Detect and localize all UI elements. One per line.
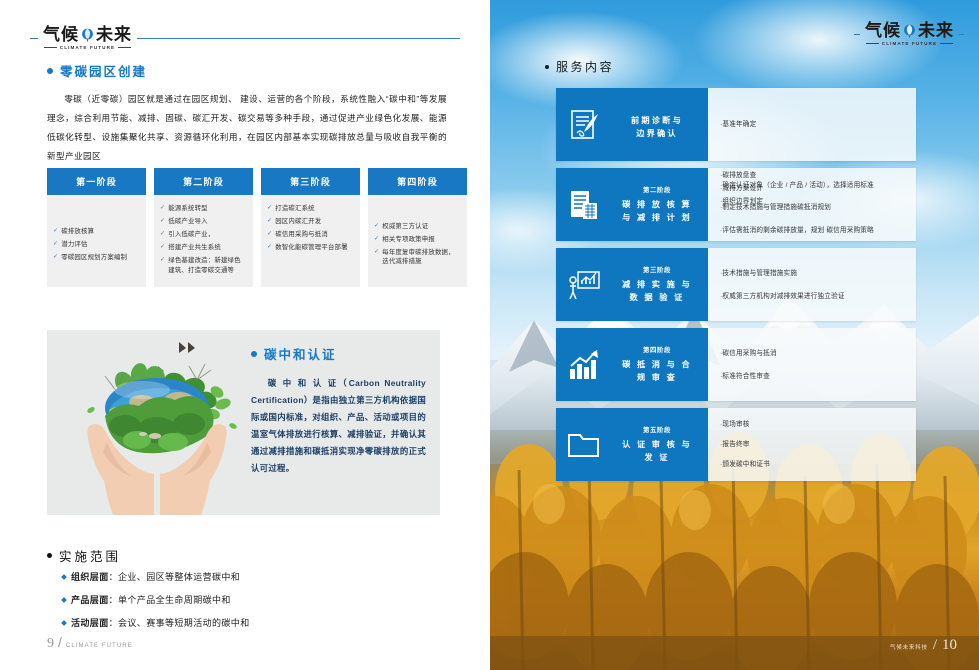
card-line: ·权威第三方机构对减排效果进行独立验证 bbox=[720, 291, 904, 302]
logo-rule-left bbox=[30, 38, 38, 39]
check-icon: ✓ bbox=[267, 217, 272, 227]
check-icon: ✓ bbox=[374, 222, 379, 232]
stage-item-label: 低碳产业导入 bbox=[168, 217, 208, 227]
right-page-footer: 气候未来科技 / 10 bbox=[890, 637, 957, 654]
logo-char-1: 气 bbox=[43, 26, 61, 43]
stage-header: 第二阶段 bbox=[154, 168, 253, 195]
logo-tagline-row: CLIMATE FUTURE bbox=[865, 41, 954, 46]
check-icon: ✓ bbox=[53, 227, 58, 237]
diamond-bullet-icon bbox=[61, 574, 67, 580]
stage-item: ✓数智化能碳管理平台部署 bbox=[267, 243, 354, 253]
leaf-globe-icon bbox=[80, 27, 95, 42]
folder-icon bbox=[556, 430, 612, 460]
stage-item: ✓打造碳汇系统 bbox=[267, 204, 354, 214]
section-heading-services: 服务内容 bbox=[545, 58, 614, 75]
scope-item-text: ：企业、园区等整体运营碳中和 bbox=[109, 570, 241, 583]
scope-item-text: ：单个产品全生命周期碳中和 bbox=[109, 593, 231, 606]
footer-slash: / bbox=[58, 634, 62, 650]
card-blue-panel: 第三阶段 减 排 实 施 与 数 据 验 证 bbox=[556, 248, 708, 321]
logo-wordmark: 气 候 未 来 CLIMATE FUTURE bbox=[38, 26, 137, 50]
service-card[interactable]: 第四阶段 碳 抵 消 与 合 规 审 查 ·碳信用采购与抵消 ·标准符合性审查 bbox=[556, 328, 916, 401]
check-icon: ✓ bbox=[160, 256, 165, 266]
hands-earth-image bbox=[47, 330, 247, 515]
logo-char-4: 来 bbox=[936, 22, 954, 39]
card-line-overlay: ·组织边界划定 bbox=[720, 196, 763, 207]
scope-item-label: 活动层面 bbox=[71, 616, 109, 629]
section-heading-zero-carbon: 零碳园区创建 bbox=[47, 61, 147, 80]
diamond-bullet-icon bbox=[61, 620, 67, 626]
stage-item: ✓引入低碳产业， bbox=[160, 230, 247, 240]
certification-panel: 碳中和认证 碳 中 和 认 证（Carbon Neutrality Certif… bbox=[47, 330, 440, 515]
logo-char-2: 候 bbox=[883, 22, 901, 39]
footer-slash: / bbox=[933, 637, 937, 654]
check-icon: ✓ bbox=[160, 243, 165, 253]
stage-item-label: 碳信用采购与抵消 bbox=[275, 230, 328, 240]
stage-item-label: 数智化能碳管理平台部署 bbox=[275, 243, 348, 253]
card-name: 减 排 实 施 与 数 据 验 证 bbox=[612, 278, 702, 304]
check-icon: ✓ bbox=[267, 204, 272, 214]
logo-char-1: 气 bbox=[865, 22, 883, 39]
stage-body: ✓权威第三方认证 ✓相关专项政策申报 ✓每年度复审碳排放数据，迭代减排措施 bbox=[368, 195, 467, 287]
card-line: ·碳信用采购与抵消 bbox=[720, 348, 904, 359]
stage-item: ✓搭建产业共生系统 bbox=[160, 243, 247, 253]
card-detail-panel: ·现场审核 ·报告终审 ·颁发碳中和证书 bbox=[708, 408, 916, 481]
stage-item-label: 相关专项政策申报 bbox=[382, 235, 435, 245]
diamond-bullet-icon bbox=[61, 597, 67, 603]
stage-item-label: 绿色基建改造：新建绿色建筑、打造零碳交通等 bbox=[168, 256, 247, 275]
footer-label: 气候未来科技 bbox=[890, 643, 928, 651]
logo-char-4: 来 bbox=[114, 26, 132, 43]
logo-wordmark: 气 候 未 来 CLIMATE FUTURE bbox=[860, 22, 959, 46]
stage-body: ✓打造碳汇系统 ✓园区内碳汇开发 ✓碳信用采购与抵消 ✓数智化能碳管理平台部署 bbox=[261, 195, 360, 287]
tagline-rule-left bbox=[44, 47, 57, 48]
card-label: 前期诊断与 边界确认 bbox=[612, 110, 708, 140]
certification-title: 碳中和认证 bbox=[264, 344, 337, 363]
scope-list: 组织层面 ：企业、园区等整体运营碳中和 产品层面 ：单个产品全生命周期碳中和 活… bbox=[62, 570, 250, 639]
stage-item-label: 权威第三方认证 bbox=[382, 222, 428, 232]
stage-item-label: 打造碳汇系统 bbox=[275, 204, 315, 214]
page-number: 10 bbox=[942, 637, 957, 654]
logo-rule-right bbox=[137, 38, 460, 39]
card-blue-panel: 前期诊断与 边界确认 bbox=[556, 88, 708, 161]
card-line-overlay: ·碳排放盘查 bbox=[720, 170, 756, 181]
footer-label: CLIMATE FUTURE bbox=[66, 643, 133, 649]
logo-rule-right bbox=[959, 34, 964, 35]
stage-body: ✓能源系统转型 ✓低碳产业导入 ✓引入低碳产业， ✓搭建产业共生系统 ✓绿色基建… bbox=[154, 195, 253, 287]
stage-item: ✓相关专项政策申报 bbox=[374, 235, 461, 245]
stage-column-1: 第一阶段 ✓碳排放核算 ✓潜力评估 ✓零碳园区规划方案编制 bbox=[47, 168, 146, 287]
card-line: ·技术措施与管理措施实施 bbox=[720, 268, 904, 279]
logo-tagline: CLIMATE FUTURE bbox=[882, 41, 937, 46]
brochure-spread: 气 候 未 来 CLIMATE FUTURE 零碳园区创建 bbox=[0, 0, 979, 670]
left-page-footer: 9 / CLIMATE FUTURE bbox=[47, 634, 133, 652]
bullet-dot-icon bbox=[47, 553, 52, 558]
stage-item: ✓每年度复审碳排放数据，迭代减排措施 bbox=[374, 248, 461, 267]
stage-item: ✓绿色基建改造：新建绿色建筑、打造零碳交通等 bbox=[160, 256, 247, 275]
service-cards-list: 前期诊断与 边界确认 ·基准年确定 第二阶段 bbox=[556, 88, 916, 488]
ledger-calculator-icon bbox=[556, 188, 612, 222]
stage-header: 第一阶段 bbox=[47, 168, 146, 195]
stage-item-label: 能源系统转型 bbox=[168, 204, 208, 214]
stage-item: ✓零碳园区规划方案编制 bbox=[53, 253, 140, 263]
stage-item: ✓能源系统转型 bbox=[160, 204, 247, 214]
stage-column-3: 第三阶段 ✓打造碳汇系统 ✓园区内碳汇开发 ✓碳信用采购与抵消 ✓数智化能碳管理… bbox=[261, 168, 360, 287]
stage-body: ✓碳排放核算 ✓潜力评估 ✓零碳园区规划方案编制 bbox=[47, 195, 146, 287]
stage-item: ✓园区内碳汇开发 bbox=[267, 217, 354, 227]
stage-item: ✓权威第三方认证 bbox=[374, 222, 461, 232]
service-card[interactable]: 第二阶段 碳 排 放 核 算 与 减 排 计 划 ·碳排放盘查 ·减排方案设计 … bbox=[556, 168, 916, 241]
tagline-rule-left bbox=[866, 43, 879, 44]
stage-item: ✓碳排放核算 bbox=[53, 227, 140, 237]
tagline-rule-right bbox=[940, 43, 953, 44]
logo-char-3: 未 bbox=[96, 26, 114, 43]
check-icon: ✓ bbox=[374, 235, 379, 245]
check-icon: ✓ bbox=[160, 230, 165, 240]
check-icon: ✓ bbox=[53, 253, 58, 263]
logo-tagline: CLIMATE FUTURE bbox=[60, 45, 115, 50]
card-line: ·现场审核 bbox=[720, 419, 904, 430]
section-heading-scope: 实施范围 bbox=[47, 546, 121, 565]
service-card[interactable]: 第三阶段 减 排 实 施 与 数 据 验 证 ·技术措施与管理措施实施 ·权威第… bbox=[556, 248, 916, 321]
card-stage: 第二阶段 bbox=[612, 185, 702, 194]
scope-item-text: ：会议、赛事等短期活动的碳中和 bbox=[109, 616, 250, 629]
card-detail-panel: ·技术措施与管理措施实施 ·权威第三方机构对减排效果进行独立验证 bbox=[708, 248, 916, 321]
card-detail-panel: ·基准年确定 bbox=[708, 88, 916, 161]
scope-title: 实施范围 bbox=[59, 546, 121, 565]
page-gutter bbox=[488, 0, 490, 670]
card-label: 第四阶段 碳 抵 消 与 合 规 审 查 bbox=[612, 345, 708, 384]
certification-heading: 碳中和认证 bbox=[251, 344, 426, 363]
card-line-overlay: ·减排方案设计 bbox=[720, 183, 763, 194]
stage-item: ✓低碳产业导入 bbox=[160, 217, 247, 227]
card-label: 第二阶段 碳 排 放 核 算 与 减 排 计 划 bbox=[612, 185, 708, 224]
card-name: 碳 抵 消 与 合 规 审 查 bbox=[612, 358, 702, 384]
bullet-dot-icon bbox=[47, 68, 53, 74]
card-stage: 第三阶段 bbox=[612, 265, 702, 274]
card-blue-panel: 第五阶段 认 证 审 核 与 发 证 bbox=[556, 408, 708, 481]
card-detail-panel: ·碳排放盘查 ·减排方案设计 ·组织边界划定 ·确定认证对象（企业 / 产品 /… bbox=[708, 168, 916, 241]
list-item: 活动层面 ：会议、赛事等短期活动的碳中和 bbox=[62, 616, 250, 629]
stage-item-label: 每年度复审碳排放数据，迭代减排措施 bbox=[382, 248, 461, 267]
page-number: 9 bbox=[47, 636, 54, 652]
document-feather-icon bbox=[556, 108, 612, 142]
logo-tagline-row: CLIMATE FUTURE bbox=[43, 45, 132, 50]
stage-header: 第四阶段 bbox=[368, 168, 467, 195]
stage-column-2: 第二阶段 ✓能源系统转型 ✓低碳产业导入 ✓引入低碳产业， ✓搭建产业共生系统 … bbox=[154, 168, 253, 287]
presenter-chart-icon bbox=[556, 268, 612, 302]
check-icon: ✓ bbox=[53, 240, 58, 250]
stage-header: 第三阶段 bbox=[261, 168, 360, 195]
card-name: 碳 排 放 核 算 与 减 排 计 划 bbox=[612, 198, 702, 224]
left-page: 气 候 未 来 CLIMATE FUTURE 零碳园区创建 bbox=[0, 0, 489, 670]
stage-table: 第一阶段 ✓碳排放核算 ✓潜力评估 ✓零碳园区规划方案编制 第二阶段 ✓能源系统… bbox=[47, 168, 467, 287]
certification-text-block: 碳中和认证 碳 中 和 认 证（Carbon Neutrality Certif… bbox=[247, 330, 440, 515]
stage-item-label: 零碳园区规划方案编制 bbox=[61, 253, 127, 263]
card-detail-panel: ·碳信用采购与抵消 ·标准符合性审查 bbox=[708, 328, 916, 401]
list-item: 产品层面 ：单个产品全生命周期碳中和 bbox=[62, 593, 250, 606]
logo-characters: 气 候 未 来 bbox=[865, 22, 954, 39]
section-title: 零碳园区创建 bbox=[60, 61, 147, 80]
brand-logo-right: 气 候 未 来 CLIMATE FUTURE bbox=[854, 22, 964, 46]
intro-paragraph: 零碳（近零碳）园区就是通过在园区规划、 建设、运营的各个阶段，系统性融入“碳中和… bbox=[47, 90, 447, 166]
stage-item: ✓碳信用采购与抵消 bbox=[267, 230, 354, 240]
card-line: ·标准符合性审查 bbox=[720, 371, 904, 382]
brand-logo-left: 气 候 未 来 CLIMATE FUTURE bbox=[30, 26, 460, 50]
stage-item-label: 搭建产业共生系统 bbox=[168, 243, 221, 253]
leaf-globe-icon bbox=[902, 23, 917, 38]
growth-bar-arrow-icon bbox=[556, 349, 612, 381]
logo-characters: 气 候 未 来 bbox=[43, 26, 132, 43]
stage-item-label: 碳排放核算 bbox=[61, 227, 94, 237]
card-stage: 第五阶段 bbox=[612, 425, 702, 434]
stage-item-label: 潜力评估 bbox=[61, 240, 87, 250]
card-stage: 第四阶段 bbox=[612, 345, 702, 354]
logo-char-3: 未 bbox=[918, 22, 936, 39]
scope-item-label: 组织层面 bbox=[71, 570, 109, 583]
card-name: 认 证 审 核 与 发 证 bbox=[612, 438, 702, 464]
bullet-dot-icon bbox=[545, 65, 549, 69]
card-line: ·报告终审 bbox=[720, 439, 904, 450]
tagline-rule-right bbox=[118, 47, 131, 48]
card-label: 第三阶段 减 排 实 施 与 数 据 验 证 bbox=[612, 265, 708, 304]
stage-item: ✓潜力评估 bbox=[53, 240, 140, 250]
stage-item-label: 引入低碳产业， bbox=[168, 230, 214, 240]
check-icon: ✓ bbox=[160, 204, 165, 214]
card-line: ·颁发碳中和证书 bbox=[720, 459, 904, 470]
card-line: ·基准年确定 bbox=[720, 119, 904, 130]
service-card[interactable]: 第五阶段 认 证 审 核 与 发 证 ·现场审核 ·报告终审 ·颁发碳中和证书 bbox=[556, 408, 916, 481]
check-icon: ✓ bbox=[267, 230, 272, 240]
check-icon: ✓ bbox=[160, 217, 165, 227]
card-line: ·评估需抵消的剩余碳排放量，规划 碳信用采购策略 bbox=[720, 225, 904, 236]
services-title: 服务内容 bbox=[556, 58, 614, 75]
card-name: 前期诊断与 边界确认 bbox=[612, 114, 702, 140]
list-item: 组织层面 ：企业、园区等整体运营碳中和 bbox=[62, 570, 250, 583]
certification-body: 碳 中 和 认 证（Carbon Neutrality Certificatio… bbox=[251, 375, 426, 477]
check-icon: ✓ bbox=[374, 248, 379, 258]
check-icon: ✓ bbox=[267, 243, 272, 253]
card-label: 第五阶段 认 证 审 核 与 发 证 bbox=[612, 425, 708, 464]
card-blue-panel: 第二阶段 碳 排 放 核 算 与 减 排 计 划 bbox=[556, 168, 708, 241]
stage-item-label: 园区内碳汇开发 bbox=[275, 217, 321, 227]
bullet-dot-icon bbox=[251, 351, 257, 357]
card-blue-panel: 第四阶段 碳 抵 消 与 合 规 审 查 bbox=[556, 328, 708, 401]
logo-char-2: 候 bbox=[61, 26, 79, 43]
scope-item-label: 产品层面 bbox=[71, 593, 109, 606]
service-card[interactable]: 前期诊断与 边界确认 ·基准年确定 bbox=[556, 88, 916, 161]
stage-column-4: 第四阶段 ✓权威第三方认证 ✓相关专项政策申报 ✓每年度复审碳排放数据，迭代减排… bbox=[368, 168, 467, 287]
